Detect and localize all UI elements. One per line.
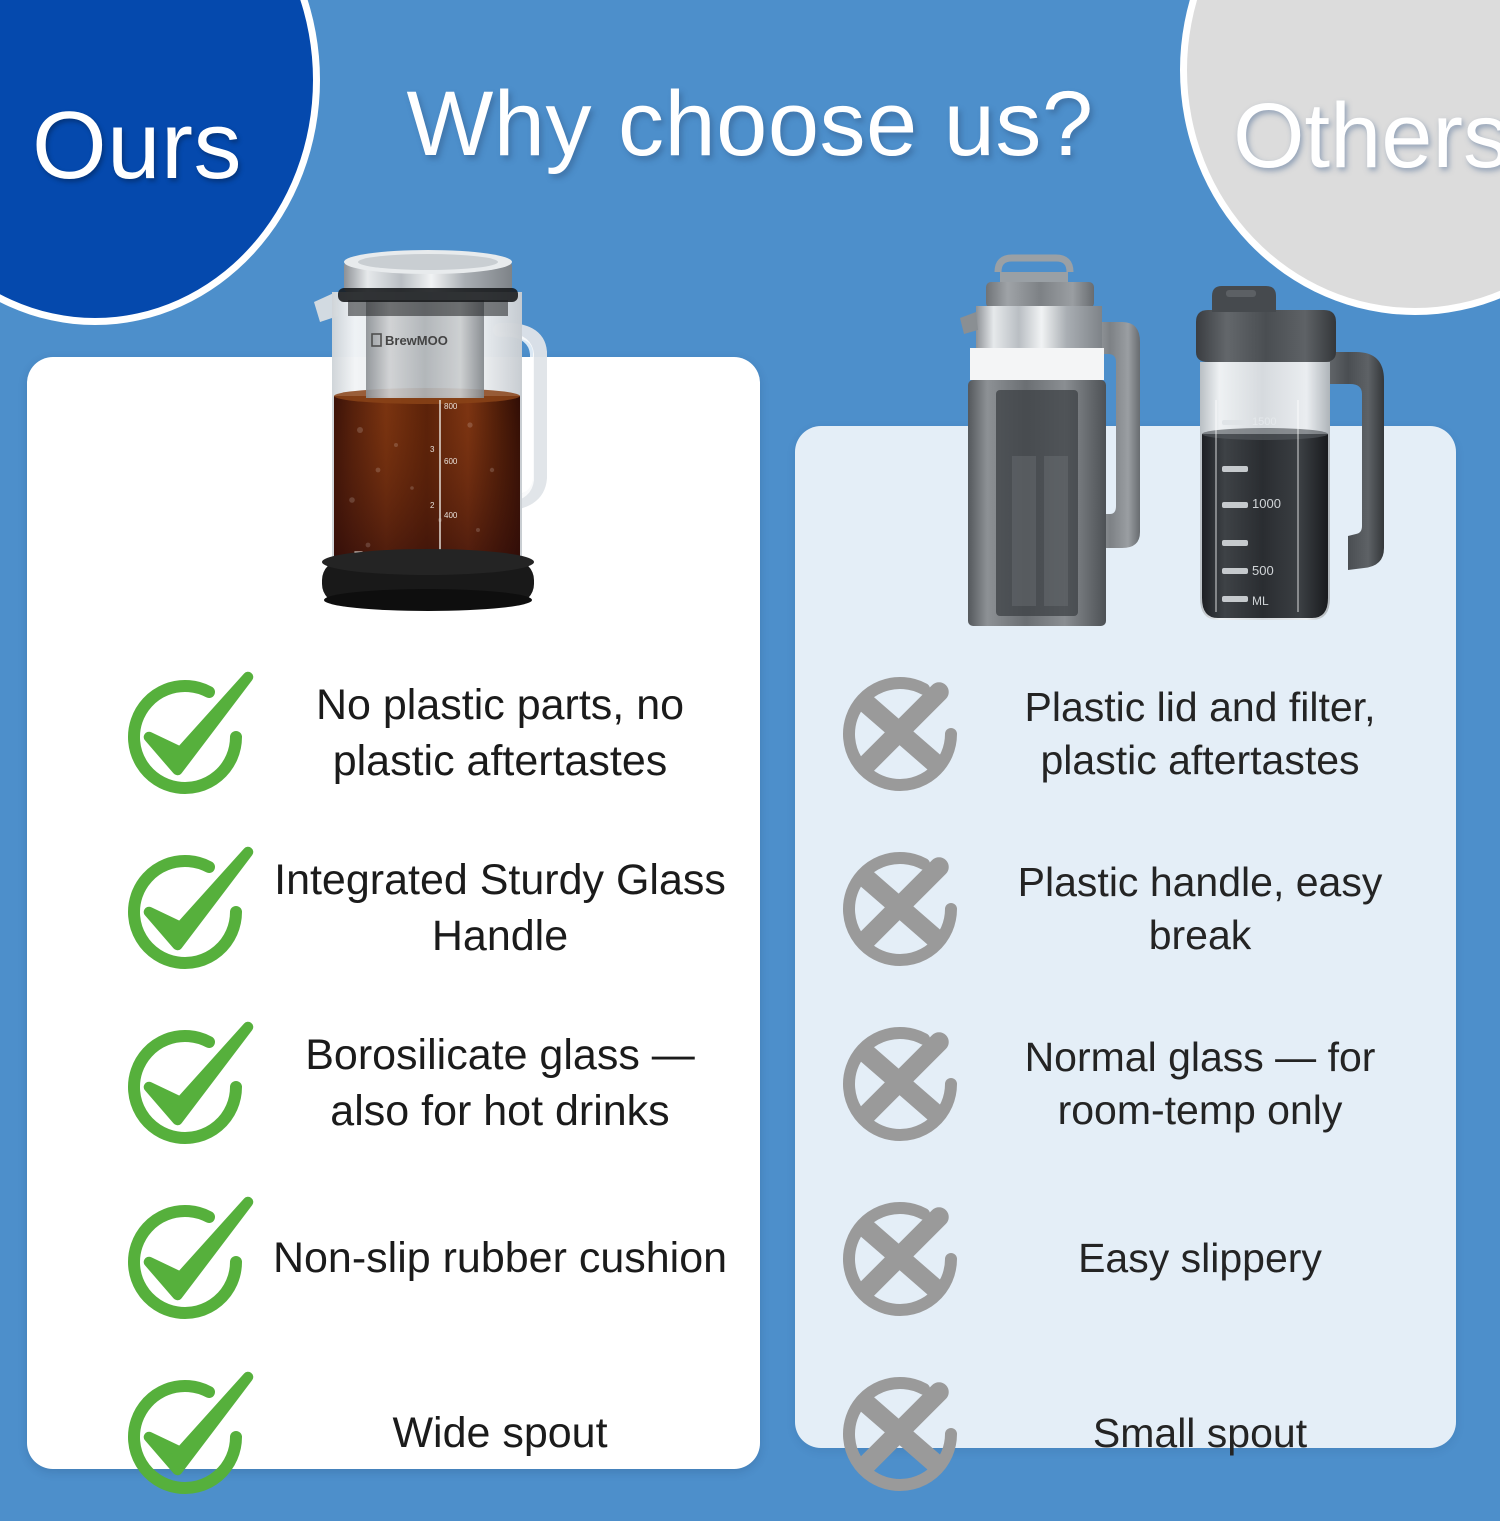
- ours-feature-label: Wide spout: [260, 1406, 740, 1461]
- cross-circle-icon: [825, 1009, 975, 1159]
- svg-text:2: 2: [430, 501, 435, 510]
- cross-circle-icon: [825, 1359, 975, 1509]
- ours-badge-label: Ours: [32, 91, 242, 201]
- others-feature-row: Easy slippery: [825, 1171, 1425, 1346]
- ours-feature-row: Non-slip rubber cushion: [110, 1171, 740, 1346]
- ours-feature-label: Borosilicate glass — also for hot drinks: [260, 1028, 740, 1138]
- check-circle-icon: [110, 659, 260, 809]
- svg-text:3: 3: [430, 445, 435, 454]
- svg-text:500: 500: [1252, 563, 1274, 578]
- others-feature-label: Plastic handle, easy break: [975, 856, 1425, 961]
- others-badge-label: Others: [1233, 84, 1500, 189]
- ours-feature-label: Integrated Sturdy Glass Handle: [260, 853, 740, 963]
- check-circle-icon: [110, 1009, 260, 1159]
- others-feature-row: Plastic handle, easy break: [825, 821, 1425, 996]
- ours-feature-row: Borosilicate glass — also for hot drinks: [110, 996, 740, 1171]
- cross-circle-icon: [825, 1359, 975, 1509]
- ours-product-image: 800 600 400 3 2 1 cup=200ml 1cup=8oz Bre…: [314, 250, 540, 611]
- ours-feature-list: No plastic parts, no plastic aftertastes…: [110, 646, 740, 1521]
- svg-text:800: 800: [444, 402, 458, 411]
- others-feature-label: Easy slippery: [975, 1232, 1425, 1284]
- svg-text:400: 400: [444, 511, 458, 520]
- cross-circle-icon: [825, 834, 975, 984]
- svg-text:ML: ML: [1252, 594, 1269, 608]
- check-circle-icon: [110, 659, 260, 809]
- check-circle-icon: [110, 1359, 260, 1509]
- ours-feature-label: Non-slip rubber cushion: [260, 1231, 740, 1286]
- check-circle-icon: [110, 834, 260, 984]
- cross-circle-icon: [825, 1184, 975, 1334]
- ours-feature-row: Wide spout: [110, 1346, 740, 1521]
- others-feature-row: Plastic lid and filter, plastic aftertas…: [825, 646, 1425, 821]
- cross-circle-icon: [825, 834, 975, 984]
- others-feature-label: Small spout: [975, 1407, 1425, 1459]
- svg-text:600: 600: [444, 457, 458, 466]
- others-product-a-image: [960, 258, 1140, 626]
- others-product-b-image: 1500 1000 500 ML: [1196, 286, 1384, 620]
- cross-circle-icon: [825, 659, 975, 809]
- check-circle-icon: [110, 1184, 260, 1334]
- svg-text:1500: 1500: [1252, 416, 1276, 428]
- others-feature-list: Plastic lid and filter, plastic aftertas…: [825, 646, 1425, 1521]
- others-feature-row: Small spout: [825, 1346, 1425, 1521]
- others-feature-row: Normal glass — for room-temp only: [825, 996, 1425, 1171]
- check-circle-icon: [110, 1009, 260, 1159]
- svg-text:BrewMOO: BrewMOO: [385, 333, 448, 348]
- ours-feature-label: No plastic parts, no plastic aftertastes: [260, 678, 740, 788]
- ours-feature-row: No plastic parts, no plastic aftertastes: [110, 646, 740, 821]
- cross-circle-icon: [825, 659, 975, 809]
- check-circle-icon: [110, 1359, 260, 1509]
- ours-feature-row: Integrated Sturdy Glass Handle: [110, 821, 740, 996]
- svg-text:1000: 1000: [1252, 496, 1281, 511]
- check-circle-icon: [110, 834, 260, 984]
- others-feature-label: Normal glass — for room-temp only: [975, 1031, 1425, 1136]
- cross-circle-icon: [825, 1009, 975, 1159]
- check-circle-icon: [110, 1184, 260, 1334]
- others-feature-label: Plastic lid and filter, plastic aftertas…: [975, 681, 1425, 786]
- cross-circle-icon: [825, 1184, 975, 1334]
